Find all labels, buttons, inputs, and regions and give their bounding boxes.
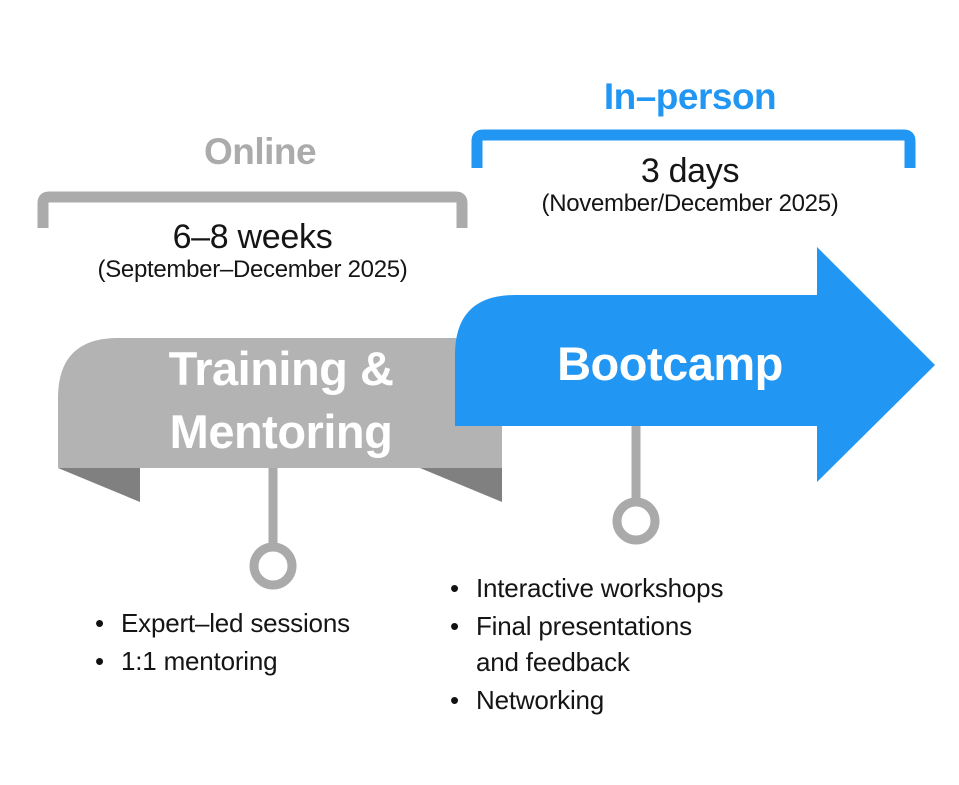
gray-banner-shape <box>58 338 502 502</box>
connector-right-icon <box>617 415 655 540</box>
list-item: • Interactive workshops <box>450 570 810 606</box>
bullet-text: Networking <box>476 682 604 718</box>
bullet-marker-icon: • <box>95 605 121 641</box>
bullet-text: 1:1 mentoring <box>121 643 277 679</box>
gray-banner-fold-left <box>58 468 140 502</box>
list-item: • Final presentations and feedback <box>450 608 810 680</box>
gray-banner-body <box>58 338 502 468</box>
blue-arrow-shape <box>455 247 935 482</box>
bullet-text: Interactive workshops <box>476 570 723 606</box>
bullet-marker-icon: • <box>450 608 476 644</box>
list-item: • Networking <box>450 682 810 718</box>
list-item: • Expert–led sessions <box>95 605 435 641</box>
gray-banner-fold-right <box>420 468 502 502</box>
bullet-marker-icon: • <box>450 682 476 718</box>
bullet-list-online: • Expert–led sessions • 1:1 mentoring <box>95 605 435 681</box>
connector-left-icon <box>254 455 292 585</box>
bullet-text: Final presentations and feedback <box>476 608 692 680</box>
list-item: • 1:1 mentoring <box>95 643 435 679</box>
bullet-marker-icon: • <box>95 643 121 679</box>
blue-arrow-body <box>455 247 935 482</box>
bullet-list-in-person: • Interactive workshops • Final presenta… <box>450 570 810 720</box>
bullet-marker-icon: • <box>450 570 476 606</box>
bullet-text: Expert–led sessions <box>121 605 350 641</box>
timeline-diagram: Online In–person 6–8 weeks (September–De… <box>0 0 959 785</box>
